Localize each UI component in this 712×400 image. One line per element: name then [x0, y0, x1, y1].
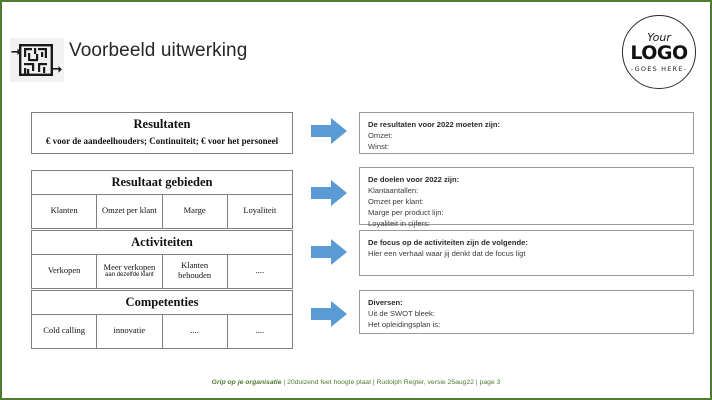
block-resultaat-gebieden: Resultaat gebieden Klanten Omzet per kla… — [31, 170, 293, 229]
cell-label: Verkopen — [48, 266, 81, 276]
page-title: Voorbeeld uitwerking — [69, 40, 247, 62]
cell-sublabel: aan dezelfde klant — [105, 272, 154, 279]
cell-label: Klanten behouden — [165, 261, 225, 281]
note-box-focus[interactable]: De focus op de activiteiten zijn de volg… — [359, 230, 694, 276]
cell-label: .... — [256, 266, 265, 276]
cell-label: Marge — [184, 206, 206, 216]
cell-label: Omzet per klant — [102, 206, 157, 216]
cell-label: Loyaliteit — [243, 206, 276, 216]
note-box-doelen[interactable]: De doelen voor 2022 zijn: Klantaantallen… — [359, 167, 694, 225]
note-line: Winst: — [368, 141, 685, 152]
note-line: Uit de SWOT bleek: — [368, 308, 685, 319]
note-box-resultaten[interactable]: De resultaten voor 2022 moeten zijn: Omz… — [359, 112, 694, 154]
block-title: Resultaat gebieden — [32, 171, 292, 194]
cell-label: Cold calling — [43, 326, 85, 336]
note-heading: Diversen: — [368, 297, 685, 308]
note-heading: De focus op de activiteiten zijn de volg… — [368, 237, 685, 248]
cell-label: .... — [256, 326, 265, 336]
block-row: Klanten Omzet per klant Marge Loyaliteit — [32, 194, 292, 228]
table-cell[interactable]: Klanten behouden — [163, 255, 228, 288]
note-heading: De doelen voor 2022 zijn: — [368, 174, 685, 185]
logo-main-text: LOGO — [630, 44, 687, 63]
right-arrow-icon — [309, 177, 349, 209]
note-box-diversen[interactable]: Diversen: Uit de SWOT bleek: Het opleidi… — [359, 290, 694, 334]
table-cell[interactable]: Loyaliteit — [228, 195, 292, 228]
block-resultaten: Resultaten € voor de aandeelhouders; Con… — [31, 112, 293, 154]
note-line: Omzet: — [368, 130, 685, 141]
block-row: Cold calling innovatie .... .... — [32, 314, 292, 348]
table-cell[interactable]: innovatie — [97, 315, 162, 348]
slide-canvas: Voorbeeld uitwerking Your LOGO -GOES HER… — [0, 0, 712, 400]
footer-title: Grip op je organisatie — [212, 379, 282, 386]
block-title: Activiteiten — [32, 231, 292, 254]
logo-sub-text: -GOES HERE- — [631, 66, 687, 73]
block-competenties: Competenties Cold calling innovatie ....… — [31, 290, 293, 349]
note-line: Het opleidingsplan is: — [368, 319, 685, 330]
cell-label: innovatie — [114, 326, 146, 336]
table-cell[interactable]: .... — [163, 315, 228, 348]
table-cell[interactable]: Omzet per klant — [97, 195, 162, 228]
right-arrow-icon — [309, 236, 349, 268]
cell-label: .... — [190, 326, 199, 336]
cell-label: Meer verkopen — [104, 263, 156, 273]
table-cell[interactable]: .... — [228, 315, 292, 348]
block-subtitle: € voor de aandeelhouders; Continuiteit; … — [32, 136, 292, 153]
table-cell[interactable]: Klanten — [32, 195, 97, 228]
cell-label: Klanten — [51, 206, 78, 216]
note-line: Klantaantallen: — [368, 185, 685, 196]
table-cell[interactable]: Cold calling — [32, 315, 97, 348]
right-arrow-icon — [309, 115, 349, 147]
footer-meta: | 20duizend feet hoogte plaat | Rudolph … — [282, 379, 501, 386]
block-title: Competenties — [32, 291, 292, 314]
note-line: Omzet per klant: — [368, 196, 685, 207]
block-activiteiten: Activiteiten Verkopen Meer verkopen aan … — [31, 230, 293, 289]
note-line: Loyaliteit in cijfers: — [368, 218, 685, 229]
note-heading: De resultaten voor 2022 moeten zijn: — [368, 119, 685, 130]
block-row: Verkopen Meer verkopen aan dezelfde klan… — [32, 254, 292, 288]
table-cell[interactable]: Marge — [163, 195, 228, 228]
table-cell[interactable]: .... — [228, 255, 292, 288]
logo-badge: Your LOGO -GOES HERE- — [622, 15, 696, 89]
slide-footer: Grip op je organisatie | 20duizend feet … — [2, 379, 710, 386]
table-cell[interactable]: Meer verkopen aan dezelfde klant — [97, 255, 162, 288]
maze-icon — [10, 38, 64, 82]
right-arrow-icon — [309, 298, 349, 330]
note-line: Marge per product lijn: — [368, 207, 685, 218]
table-cell[interactable]: Verkopen — [32, 255, 97, 288]
block-title: Resultaten — [32, 113, 292, 136]
note-line: Hier een verhaal waar jij denkt dat de f… — [368, 248, 685, 259]
